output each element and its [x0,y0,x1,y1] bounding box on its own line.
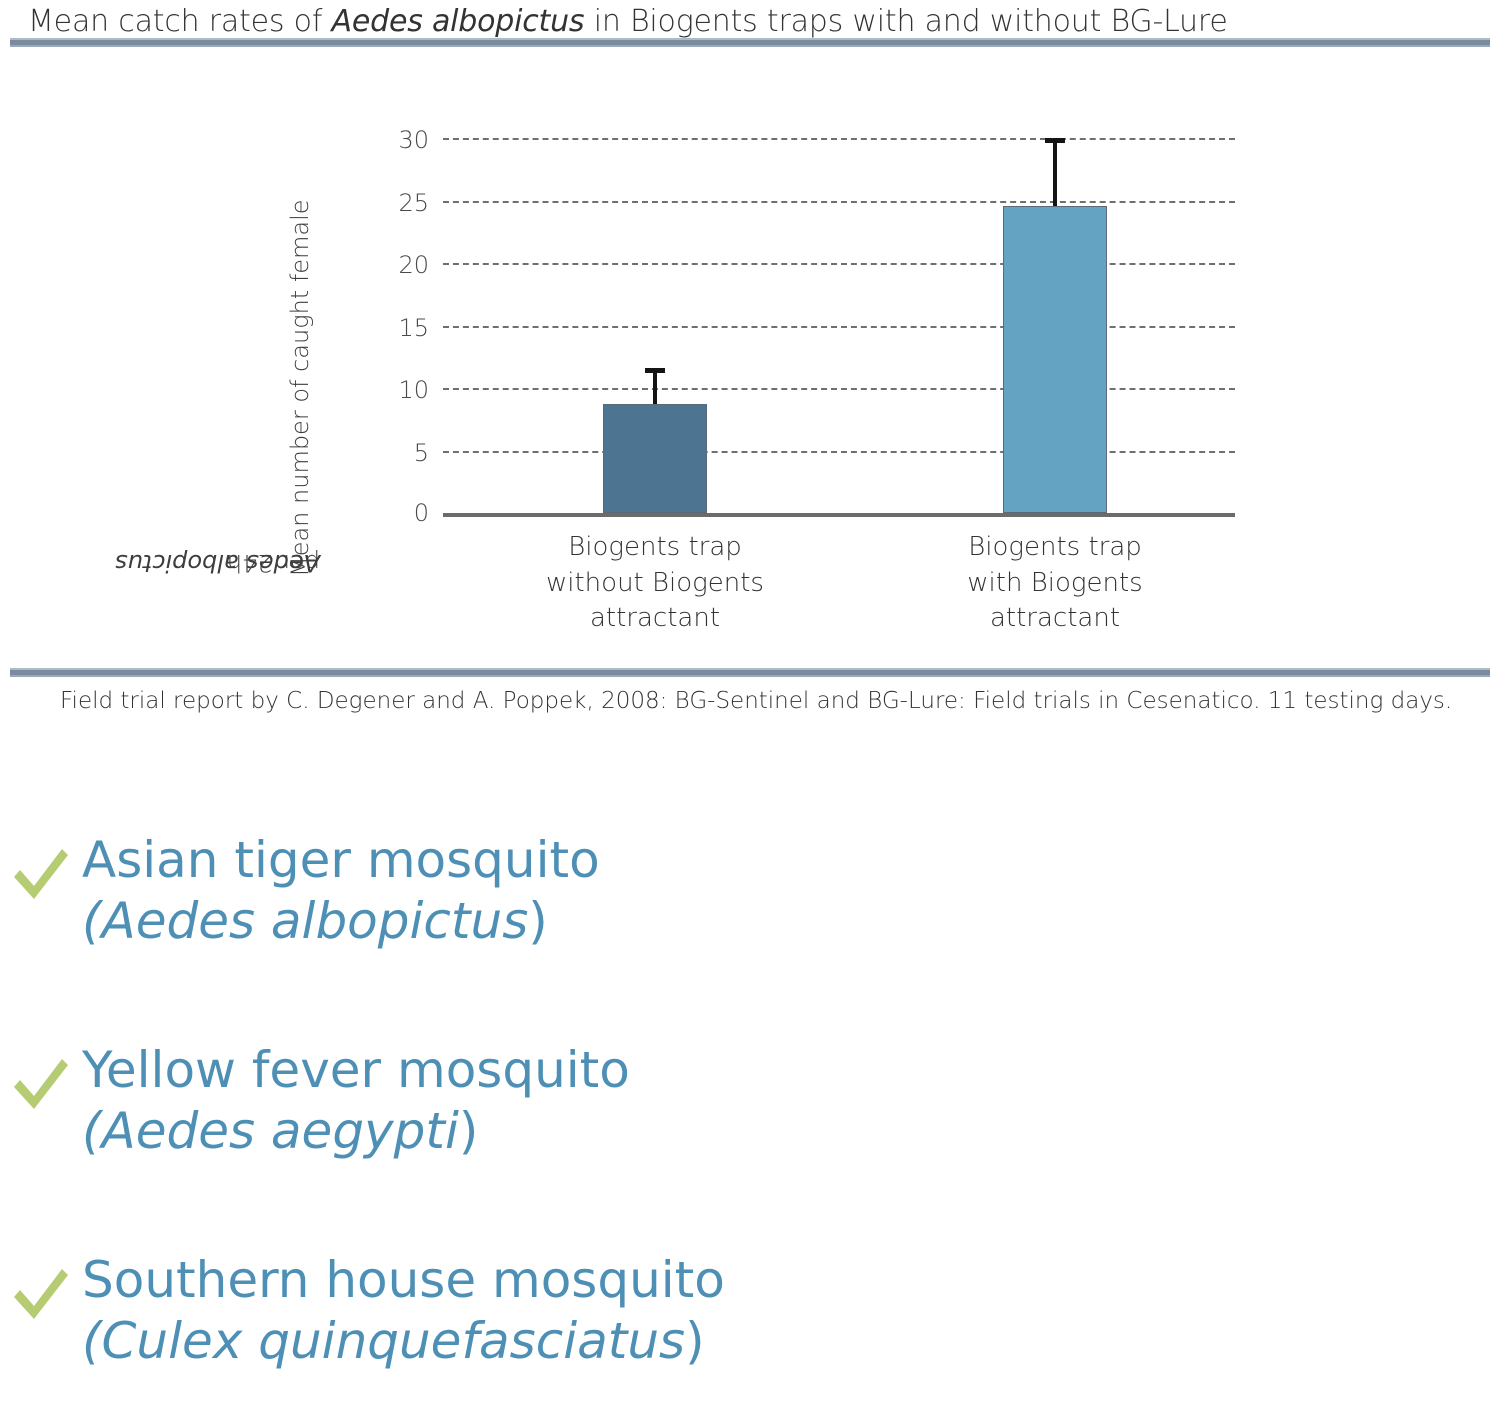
page-title: Mean catch rates of Aedes albopictus in … [28,4,1478,39]
species-scientific-name: (Aedes albopictus) [82,891,600,952]
error-bar [653,368,657,404]
bar [603,404,707,513]
species-name: Southern house mosquito(Culex quinquefas… [82,1250,725,1371]
gridline: 5 [443,451,1235,453]
y-tick-label: 25 [398,189,429,217]
y-tick-label: 20 [398,251,429,279]
species-name: Asian tiger mosquito(Aedes albopictus) [82,830,600,951]
page-title-species: Aedes albopictus [332,4,585,39]
y-axis-title: Mean number of caught female Aedes albop… [258,105,324,585]
divider-bottom [10,668,1490,677]
list-item: Southern house mosquito(Culex quinquefas… [0,1258,1500,1418]
x-axis-line [443,513,1235,517]
check-icon [10,844,72,906]
species-scientific-name: (Culex quinquefasciatus) [82,1311,725,1372]
x-axis-category-line: Biogents trap [485,530,825,566]
species-common-name: Southern house mosquito [82,1251,725,1309]
y-tick-label: 5 [414,439,429,467]
y-tick-label: 10 [398,376,429,404]
list-item: Asian tiger mosquito(Aedes albopictus) [0,838,1500,1048]
x-axis-category-label: Biogents trapwith Biogentsattractant [885,530,1225,637]
gridline: 20 [443,263,1235,265]
error-bar-cap [1045,138,1065,143]
species-scientific-name: (Aedes aegypti) [82,1101,630,1162]
species-list: Asian tiger mosquito(Aedes albopictus)Ye… [0,838,1500,1418]
bar [1003,206,1107,514]
divider-top [10,38,1490,47]
x-axis-category-line: attractant [485,601,825,637]
check-icon [10,1264,72,1326]
species-common-name: Yellow fever mosquito [82,1041,630,1099]
y-axis-title-line1: Mean number of caught female [286,199,314,577]
x-axis-category-line: without Biogents [485,566,825,602]
x-axis-category-line: with Biogents [885,566,1225,602]
y-tick-label: 30 [398,126,429,154]
species-name: Yellow fever mosquito(Aedes aegypti) [82,1040,630,1161]
gridline: 10 [443,388,1235,390]
species-common-name: Asian tiger mosquito [82,831,600,889]
y-tick-label: 15 [398,314,429,342]
page-title-pre: Mean catch rates of [28,4,332,39]
error-bar [1053,138,1057,206]
gridline: 15 [443,326,1235,328]
check-icon [10,1054,72,1116]
plot-region: 051015202530Biogents trapwithout Biogent… [443,138,1235,513]
chart-caption: Field trial report by C. Degener and A. … [60,688,1480,714]
list-item: Yellow fever mosquito(Aedes aegypti) [0,1048,1500,1258]
page-title-post: in Biogents traps with and without BG-Lu… [584,4,1227,39]
y-axis-title-unit: per 24h [227,549,320,577]
x-axis-category-label: Biogents trapwithout Biogentsattractant [485,530,825,637]
y-tick-label: 0 [414,499,429,527]
x-axis-category-line: attractant [885,601,1225,637]
x-axis-category-line: Biogents trap [885,530,1225,566]
gridline: 25 [443,201,1235,203]
gridline: 30 [443,138,1235,140]
error-bar-cap [645,368,665,373]
